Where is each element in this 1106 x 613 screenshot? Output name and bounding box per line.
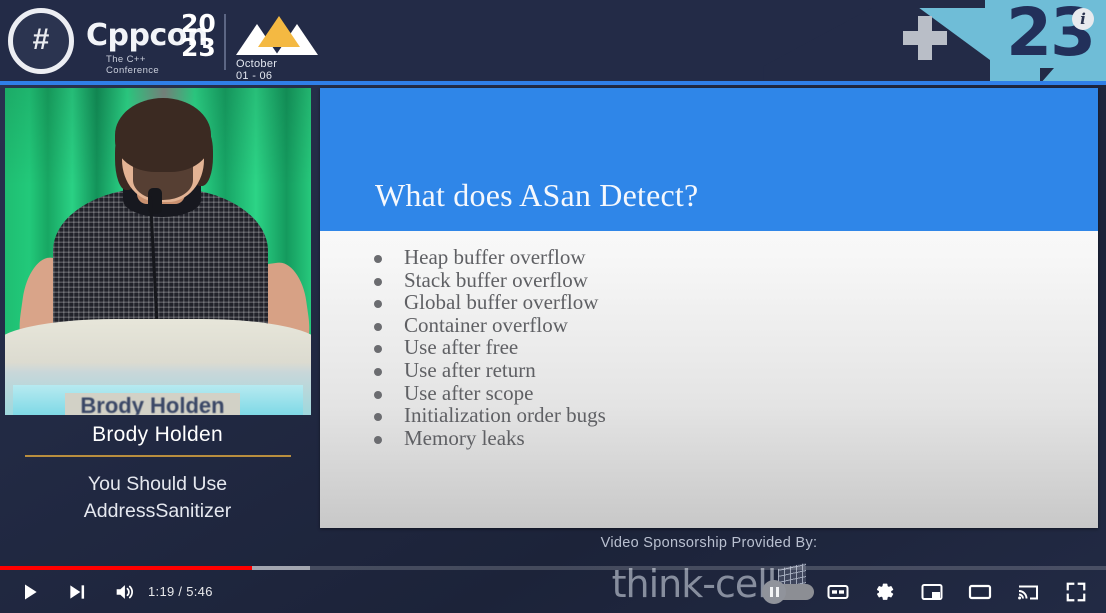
play-button[interactable] [8,570,52,613]
speaker-panel: Brody Holden Brody Holden You Should Use… [0,85,315,563]
podium-nameplate-text: Brody Holden [65,393,240,415]
miniplayer-button[interactable] [910,570,954,613]
plus-icon [903,16,947,60]
slide-body: Heap buffer overflow Stack buffer overfl… [320,231,1098,528]
player-controls: 1:19 / 5:46 [0,570,1106,613]
slide-header: What does ASan Detect? [320,88,1098,231]
hash-icon: # [24,23,58,57]
presentation-slide: What does ASan Detect? Heap buffer overf… [320,88,1098,528]
fullscreen-button[interactable] [1054,570,1098,613]
list-item: Container overflow [368,314,606,337]
mountain-center-shape [258,16,300,47]
theater-button[interactable] [958,570,1002,613]
mountains-icon [236,16,316,56]
fullscreen-icon [1065,581,1087,603]
speaker-camera-feed: Brody Holden [5,88,311,415]
info-icon[interactable]: i [1072,8,1094,30]
logo-year: 20 23 [181,12,216,60]
play-icon [20,582,40,602]
closed-captions-icon [826,580,850,604]
autoplay-toggle-icon [762,580,786,604]
list-item: Use after free [368,336,606,359]
volume-icon [113,581,135,603]
logo-year-bottom: 23 [181,36,216,60]
time-display: 1:19 / 5:46 [148,570,213,613]
volume-button[interactable] [102,570,146,613]
gold-divider [25,455,291,457]
speaker-hair [115,98,211,172]
list-item: Global buffer overflow [368,291,606,314]
logo-tagline: The C++ Conference [106,54,159,76]
list-item: Initialization order bugs [368,404,606,427]
video-player-page: 23 # Cppcon The C++ Conference 20 23 Oct… [0,0,1106,613]
list-item: Use after return [368,359,606,382]
cast-icon [1016,580,1040,604]
podium-shape: Brody Holden [5,319,311,415]
cast-button[interactable] [1006,570,1050,613]
next-video-icon [67,582,87,602]
list-item: Memory leaks [368,427,606,450]
slide-bullet-list: Heap buffer overflow Stack buffer overfl… [368,246,606,449]
list-item: Stack buffer overflow [368,269,606,292]
list-item: Heap buffer overflow [368,246,606,269]
list-item: Use after scope [368,382,606,405]
gear-icon [874,581,896,603]
subtitles-button[interactable] [816,570,860,613]
theater-mode-icon [968,580,992,604]
talk-title: You Should UseAddressSanitizer [16,471,299,525]
speaker-name: Brody Holden [0,423,315,447]
sponsor-caption: Video Sponsorship Provided By: [320,535,1098,551]
cppcon-banner: 23 # Cppcon The C++ Conference 20 23 Oct… [0,0,1106,85]
logo-divider [224,14,226,70]
miniplayer-icon [920,580,944,604]
conference-dates: October 01 - 06 [236,58,277,82]
settings-button[interactable] [863,570,907,613]
next-button[interactable] [55,570,99,613]
autoplay-toggle[interactable] [762,583,814,601]
slide-title: What does ASan Detect? [375,177,698,214]
